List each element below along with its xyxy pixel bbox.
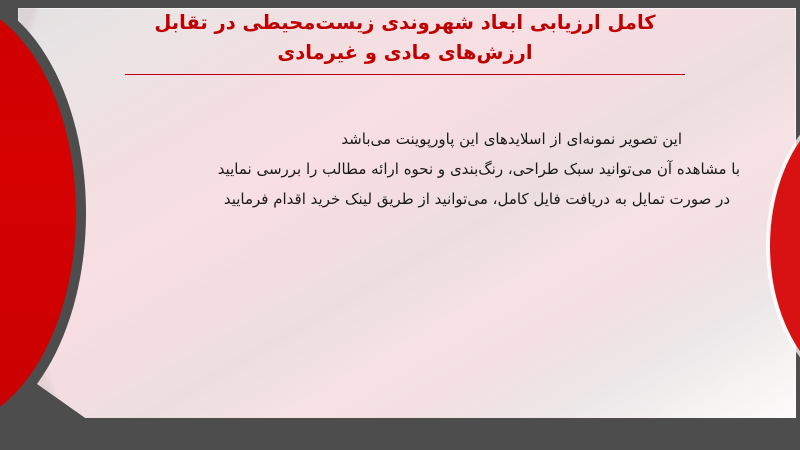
title-line-2: ارزش‌های مادی و غیرمادی [110, 38, 700, 68]
body-line-3: در صورت تمایل به دریافت فایل کامل، می‌تو… [60, 184, 740, 214]
body-line-2: با مشاهده آن می‌توانید سبک طراحی، رنگ‌بن… [60, 154, 740, 184]
slide-bottom-band [0, 418, 800, 450]
body-line-1: این تصویر نمونه‌ای از اسلایدهای این پاور… [60, 124, 740, 154]
slide-body-text: این تصویر نمونه‌ای از اسلایدهای این پاور… [60, 124, 740, 214]
slide-title: کامل ارزیابی ابعاد شهروندی زیست‌محیطی در… [110, 8, 700, 75]
title-line-1: کامل ارزیابی ابعاد شهروندی زیست‌محیطی در… [110, 8, 700, 38]
title-underline-rule [125, 74, 685, 75]
presentation-slide: کامل ارزیابی ابعاد شهروندی زیست‌محیطی در… [0, 0, 800, 450]
